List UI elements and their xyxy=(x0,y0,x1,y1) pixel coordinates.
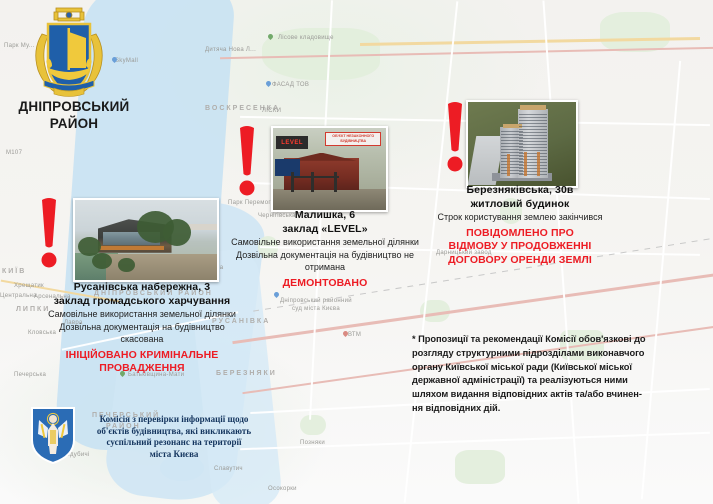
district-title-line1: ДНІПРОВСЬКИЙ xyxy=(8,98,140,115)
object-photo-malyshka: LEVEL ОБ'ЄКТ НЕЗАКОННОГО БУДІВНИЦТВА xyxy=(271,126,388,212)
map-pin xyxy=(273,291,280,298)
object-caption-bereznyakivska: Березняківська, 30в житловий будинок Стр… xyxy=(410,183,630,267)
footnote-line: органу Київської міської ради (Київської… xyxy=(412,361,700,375)
object-photo-rusanivska xyxy=(73,198,219,282)
footnote-line: шляхом видання відповідних актів та/або … xyxy=(412,388,700,402)
object-photo-bereznyakivska xyxy=(466,100,578,188)
object-status: ДОГОВОРУ ОРЕНДИ ЗЕМЛІ xyxy=(410,254,630,268)
object-status: ПОВІДОМЛЕНО ПРО xyxy=(410,227,630,241)
caption-line: суспільний резонанс на території xyxy=(78,437,270,449)
map-label: ВТМ xyxy=(348,332,361,338)
object-violation: Дозвільна документація на будівництво не xyxy=(225,249,425,262)
photo-illegal-construction-tag: ОБ'ЄКТ НЕЗАКОННОГО БУДІВНИЦТВА xyxy=(325,132,382,146)
kyiv-coat-of-arms-icon xyxy=(30,406,76,464)
object-violation: Строк користування землею закінчився xyxy=(410,211,630,224)
map-label: Осокорки xyxy=(268,486,297,492)
object-caption-rusanivska: Русанівська набережна, 3 заклад громадсь… xyxy=(22,280,262,376)
object-status: ВІДМОВУ У ПРОДОВЖЕННІ xyxy=(410,240,630,254)
caption-line: міста Києва xyxy=(78,449,270,461)
map-pin xyxy=(265,80,272,87)
commission-caption: Комісія з перевірки інформації щодо об'є… xyxy=(78,414,270,460)
object-type: заклад «LEVEL» xyxy=(225,222,425,236)
photo-level-sign: LEVEL xyxy=(276,136,308,149)
object-type: заклад громадського харчування xyxy=(22,294,262,308)
map-label: ФАСАД ТОВ xyxy=(272,82,309,88)
presentation-slide: Парк Му...SkyMallДитяча Нова Л...ВОСКРЕС… xyxy=(0,0,713,504)
footnote-line: розгляду структурними підрозділами викон… xyxy=(412,347,700,361)
warning-exclamation-icon xyxy=(236,126,258,201)
footnote-line: ня відповідних дій. xyxy=(412,402,700,416)
district-title-line2: РАЙОН xyxy=(8,115,140,132)
map-label: ЛІСКИ xyxy=(262,108,281,114)
map-label: Славутич xyxy=(214,466,243,472)
map-label: SkyMall xyxy=(115,58,138,64)
warning-exclamation-icon xyxy=(444,102,466,177)
warning-exclamation-icon xyxy=(38,198,60,273)
footnote-line: державної адміністрації) та реалізуються… xyxy=(412,374,700,388)
object-violation: Самовільне використання земельної ділянк… xyxy=(22,308,262,321)
page-title: ДНІПРОВСЬКИЙ РАЙОН xyxy=(8,98,140,132)
map-label: М107 xyxy=(6,150,22,156)
object-address: Малишка, 6 xyxy=(225,208,425,222)
object-violation: Самовільне використання земельної ділянк… xyxy=(225,236,425,249)
object-violation: отримана xyxy=(225,261,425,274)
object-caption-malyshka: Малишка, 6 заклад «LEVEL» Самовільне вик… xyxy=(225,208,425,290)
map-label: КИЇВ xyxy=(2,268,26,275)
map-label: Дитяча Нова Л... xyxy=(205,47,256,53)
object-type: житловий будинок xyxy=(410,197,630,211)
object-status: ПРОВАДЖЕННЯ xyxy=(22,362,262,376)
map-label: Лісове кладовище xyxy=(278,35,334,41)
footnote-line: * Пропозиції та рекомендації Комісії обо… xyxy=(412,333,700,347)
map-label: Позняки xyxy=(300,440,325,446)
map-park-area xyxy=(455,450,505,484)
footnote-text: * Пропозиції та рекомендації Комісії обо… xyxy=(412,333,700,416)
map-label: Дніпровський районний xyxy=(280,298,352,304)
caption-line: об'єктів будівництва, які викликають xyxy=(78,426,270,438)
object-address: Березняківська, 30в xyxy=(410,183,630,197)
object-status: ІНІЦІЙОВАНО КРИМІНАЛЬНЕ xyxy=(22,349,262,363)
map-park-area xyxy=(300,415,326,435)
map-label: суд міста Києва xyxy=(292,306,340,312)
object-violation: скасована xyxy=(22,333,262,346)
object-status: ДЕМОНТОВАНО xyxy=(225,277,425,291)
dniprovskyi-district-coat-of-arms-icon xyxy=(28,4,110,100)
caption-line: Комісія з перевірки інформації щодо xyxy=(78,414,270,426)
object-violation: Дозвільна документація на будівництво xyxy=(22,321,262,334)
map-park-area xyxy=(600,12,670,52)
